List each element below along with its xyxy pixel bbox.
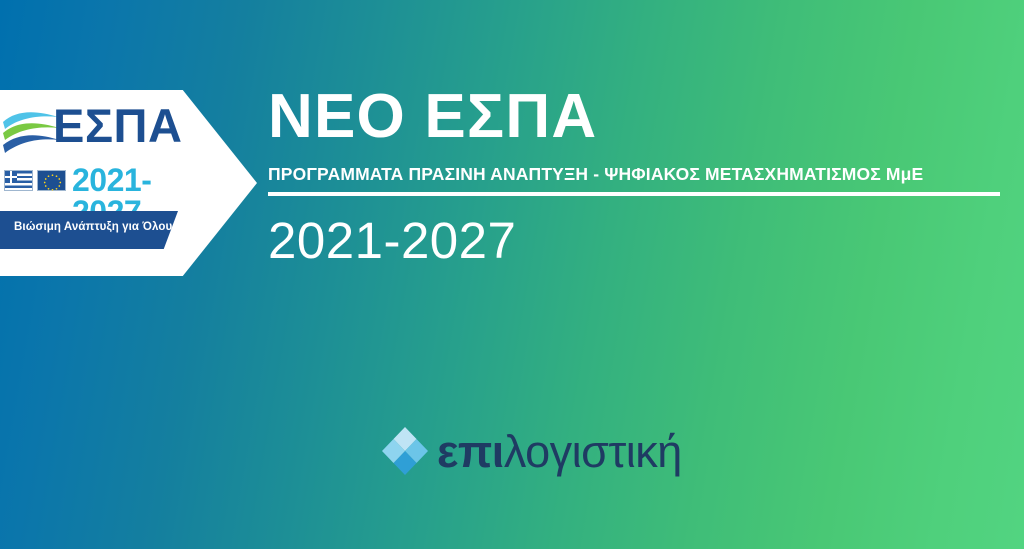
flags-group	[4, 170, 66, 192]
headline-block: ΝΕΟ ΕΣΠΑ ΠΡΟΓΡΑΜΜΑΤΑ ΠΡΑΣΙΝΗ ΑΝΑΠΤΥΞΗ - …	[268, 86, 1008, 266]
espa-logo-badge: ΕΣΠΑ	[0, 90, 257, 276]
divider	[268, 192, 1000, 196]
espa-slogan-text: Βιώσιμη Ανάπτυξη για Όλους	[14, 221, 184, 233]
four-diamonds-icon	[379, 425, 431, 477]
espa-waves-icon	[2, 108, 60, 162]
espa-promo-banner: ΕΣΠΑ	[0, 0, 1024, 549]
espa-logo-content: ΕΣΠΑ	[0, 90, 200, 276]
programme-period: 2021-2027	[268, 215, 1008, 266]
brand-logo: επιλογιστική	[379, 422, 682, 480]
brand-name-bold: επι	[437, 426, 504, 477]
greek-flag-icon	[4, 170, 33, 191]
espa-wordmark: ΕΣΠΑ	[53, 102, 182, 149]
brand-name-light: λογιστική	[504, 426, 682, 477]
page-title: ΝΕΟ ΕΣΠΑ	[268, 86, 1008, 148]
brand-name: επιλογιστική	[437, 429, 682, 474]
page-subtitle: ΠΡΟΓΡΑΜΜΑΤΑ ΠΡΑΣΙΝΗ ΑΝΑΠΤΥΞΗ - ΨΗΦΙΑΚΟΣ …	[268, 164, 1008, 185]
eu-flag-icon	[37, 170, 66, 191]
